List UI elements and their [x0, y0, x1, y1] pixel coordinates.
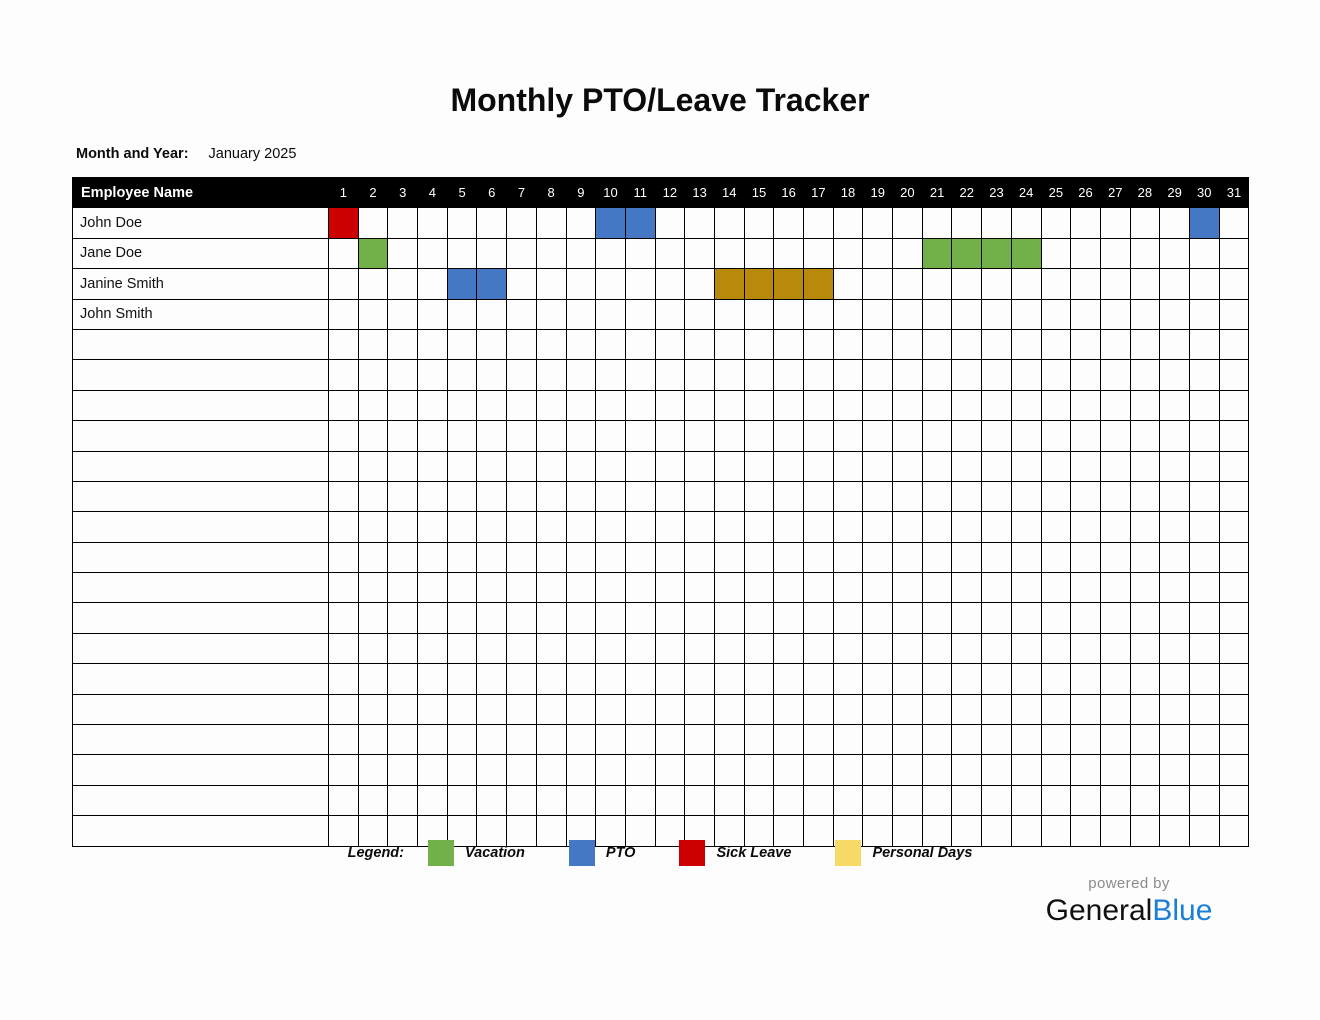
day-cell-20[interactable] [893, 755, 923, 785]
day-cell-21[interactable] [922, 694, 952, 724]
day-cell-6[interactable] [477, 481, 507, 511]
day-cell-4[interactable] [418, 360, 448, 390]
day-cell-27[interactable] [1100, 664, 1130, 694]
day-cell-5[interactable] [447, 664, 477, 694]
day-cell-24[interactable] [1011, 451, 1041, 481]
day-cell-12[interactable] [655, 390, 685, 420]
employee-name-cell[interactable] [73, 603, 329, 633]
day-cell-12[interactable] [655, 603, 685, 633]
day-cell-10[interactable] [596, 512, 626, 542]
day-cell-4[interactable] [418, 238, 448, 268]
day-cell-1[interactable] [329, 329, 359, 359]
day-cell-16[interactable] [774, 633, 804, 663]
day-cell-14[interactable] [714, 694, 744, 724]
day-cell-4[interactable] [418, 421, 448, 451]
day-cell-25[interactable] [1041, 512, 1071, 542]
day-cell-19[interactable] [863, 633, 893, 663]
day-cell-21[interactable] [922, 451, 952, 481]
employee-name-cell[interactable] [73, 725, 329, 755]
day-cell-31[interactable] [1219, 512, 1249, 542]
day-cell-7[interactable] [507, 329, 537, 359]
day-cell-31[interactable] [1219, 664, 1249, 694]
day-cell-20[interactable] [893, 542, 923, 572]
day-cell-11[interactable] [625, 390, 655, 420]
day-cell-7[interactable] [507, 725, 537, 755]
day-cell-20[interactable] [893, 481, 923, 511]
day-cell-1[interactable] [329, 360, 359, 390]
day-cell-2[interactable] [358, 208, 388, 238]
day-cell-10[interactable] [596, 725, 626, 755]
day-cell-10[interactable] [596, 573, 626, 603]
day-cell-21[interactable] [922, 299, 952, 329]
day-cell-8[interactable] [536, 785, 566, 815]
day-cell-6[interactable] [477, 542, 507, 572]
day-cell-1[interactable] [329, 421, 359, 451]
day-cell-15[interactable] [744, 785, 774, 815]
day-cell-21[interactable] [922, 542, 952, 572]
day-cell-2[interactable] [358, 603, 388, 633]
day-cell-20[interactable] [893, 390, 923, 420]
day-cell-29[interactable] [1160, 238, 1190, 268]
day-cell-27[interactable] [1100, 481, 1130, 511]
day-cell-15[interactable] [744, 329, 774, 359]
day-cell-15[interactable] [744, 360, 774, 390]
day-cell-1[interactable] [329, 573, 359, 603]
day-cell-26[interactable] [1071, 664, 1101, 694]
day-cell-28[interactable] [1130, 208, 1160, 238]
day-cell-4[interactable] [418, 390, 448, 420]
day-cell-6[interactable] [477, 238, 507, 268]
day-cell-6[interactable] [477, 633, 507, 663]
day-cell-19[interactable] [863, 542, 893, 572]
day-cell-24[interactable] [1011, 664, 1041, 694]
day-cell-19[interactable] [863, 694, 893, 724]
day-cell-12[interactable] [655, 664, 685, 694]
day-cell-30[interactable] [1189, 238, 1219, 268]
day-cell-15[interactable] [744, 755, 774, 785]
day-cell-23[interactable] [982, 390, 1012, 420]
day-cell-20[interactable] [893, 694, 923, 724]
day-cell-7[interactable] [507, 785, 537, 815]
day-cell-20[interactable] [893, 725, 923, 755]
employee-name-cell[interactable] [73, 573, 329, 603]
day-cell-18[interactable] [833, 269, 863, 299]
day-cell-21[interactable] [922, 360, 952, 390]
day-cell-29[interactable] [1160, 299, 1190, 329]
day-cell-6[interactable] [477, 694, 507, 724]
day-cell-2[interactable] [358, 329, 388, 359]
day-cell-30[interactable] [1189, 451, 1219, 481]
day-cell-12[interactable] [655, 542, 685, 572]
day-cell-2-marked[interactable] [358, 238, 388, 268]
day-cell-14[interactable] [714, 755, 744, 785]
day-cell-30[interactable] [1189, 725, 1219, 755]
day-cell-22[interactable] [952, 755, 982, 785]
day-cell-21[interactable] [922, 755, 952, 785]
day-cell-8[interactable] [536, 664, 566, 694]
day-cell-1[interactable] [329, 755, 359, 785]
day-cell-30[interactable] [1189, 785, 1219, 815]
day-cell-13[interactable] [685, 664, 715, 694]
day-cell-25[interactable] [1041, 451, 1071, 481]
day-cell-17[interactable] [804, 299, 834, 329]
day-cell-14[interactable] [714, 360, 744, 390]
day-cell-7[interactable] [507, 664, 537, 694]
day-cell-4[interactable] [418, 481, 448, 511]
day-cell-17[interactable] [804, 725, 834, 755]
day-cell-23[interactable] [982, 694, 1012, 724]
day-cell-17[interactable] [804, 208, 834, 238]
day-cell-3[interactable] [388, 299, 418, 329]
day-cell-24[interactable] [1011, 603, 1041, 633]
day-cell-2[interactable] [358, 421, 388, 451]
day-cell-27[interactable] [1100, 299, 1130, 329]
day-cell-26[interactable] [1071, 633, 1101, 663]
day-cell-25[interactable] [1041, 421, 1071, 451]
day-cell-15[interactable] [744, 512, 774, 542]
day-cell-12[interactable] [655, 725, 685, 755]
day-cell-1[interactable] [329, 664, 359, 694]
day-cell-17[interactable] [804, 573, 834, 603]
day-cell-10[interactable] [596, 329, 626, 359]
day-cell-18[interactable] [833, 664, 863, 694]
day-cell-12[interactable] [655, 208, 685, 238]
day-cell-19[interactable] [863, 785, 893, 815]
day-cell-23[interactable] [982, 421, 1012, 451]
day-cell-18[interactable] [833, 360, 863, 390]
day-cell-25[interactable] [1041, 481, 1071, 511]
day-cell-30[interactable] [1189, 329, 1219, 359]
day-cell-9[interactable] [566, 725, 596, 755]
day-cell-31[interactable] [1219, 694, 1249, 724]
day-cell-31[interactable] [1219, 785, 1249, 815]
day-cell-19[interactable] [863, 755, 893, 785]
day-cell-7[interactable] [507, 208, 537, 238]
day-cell-9[interactable] [566, 238, 596, 268]
day-cell-2[interactable] [358, 755, 388, 785]
day-cell-8[interactable] [536, 269, 566, 299]
employee-name-cell[interactable]: John Doe [73, 208, 329, 238]
day-cell-9[interactable] [566, 785, 596, 815]
day-cell-16[interactable] [774, 603, 804, 633]
day-cell-28[interactable] [1130, 542, 1160, 572]
day-cell-26[interactable] [1071, 725, 1101, 755]
day-cell-28[interactable] [1130, 633, 1160, 663]
day-cell-18[interactable] [833, 542, 863, 572]
day-cell-19[interactable] [863, 481, 893, 511]
day-cell-25[interactable] [1041, 664, 1071, 694]
day-cell-28[interactable] [1130, 269, 1160, 299]
day-cell-8[interactable] [536, 360, 566, 390]
day-cell-12[interactable] [655, 269, 685, 299]
day-cell-26[interactable] [1071, 694, 1101, 724]
day-cell-31[interactable] [1219, 542, 1249, 572]
day-cell-16[interactable] [774, 573, 804, 603]
day-cell-9[interactable] [566, 360, 596, 390]
day-cell-31[interactable] [1219, 238, 1249, 268]
day-cell-19[interactable] [863, 603, 893, 633]
day-cell-29[interactable] [1160, 512, 1190, 542]
day-cell-9[interactable] [566, 633, 596, 663]
day-cell-21[interactable] [922, 603, 952, 633]
day-cell-23[interactable] [982, 451, 1012, 481]
employee-name-cell[interactable]: Janine Smith [73, 269, 329, 299]
day-cell-1[interactable] [329, 694, 359, 724]
day-cell-10[interactable] [596, 694, 626, 724]
day-cell-22[interactable] [952, 299, 982, 329]
day-cell-24[interactable] [1011, 573, 1041, 603]
employee-name-cell[interactable] [73, 633, 329, 663]
day-cell-6[interactable] [477, 603, 507, 633]
day-cell-25[interactable] [1041, 208, 1071, 238]
day-cell-27[interactable] [1100, 573, 1130, 603]
day-cell-1[interactable] [329, 542, 359, 572]
day-cell-23-marked[interactable] [982, 238, 1012, 268]
day-cell-2[interactable] [358, 481, 388, 511]
day-cell-15[interactable] [744, 694, 774, 724]
day-cell-29[interactable] [1160, 785, 1190, 815]
day-cell-23[interactable] [982, 269, 1012, 299]
day-cell-23[interactable] [982, 299, 1012, 329]
day-cell-10[interactable] [596, 785, 626, 815]
day-cell-28[interactable] [1130, 573, 1160, 603]
day-cell-23[interactable] [982, 664, 1012, 694]
day-cell-1[interactable] [329, 633, 359, 663]
day-cell-17[interactable] [804, 481, 834, 511]
day-cell-3[interactable] [388, 390, 418, 420]
day-cell-1[interactable] [329, 299, 359, 329]
day-cell-27[interactable] [1100, 633, 1130, 663]
day-cell-31[interactable] [1219, 390, 1249, 420]
day-cell-12[interactable] [655, 451, 685, 481]
day-cell-3[interactable] [388, 785, 418, 815]
day-cell-7[interactable] [507, 633, 537, 663]
day-cell-7[interactable] [507, 694, 537, 724]
day-cell-6-marked[interactable] [477, 269, 507, 299]
day-cell-5[interactable] [447, 573, 477, 603]
day-cell-10[interactable] [596, 360, 626, 390]
day-cell-29[interactable] [1160, 360, 1190, 390]
day-cell-4[interactable] [418, 208, 448, 238]
day-cell-14[interactable] [714, 238, 744, 268]
day-cell-7[interactable] [507, 542, 537, 572]
day-cell-12[interactable] [655, 785, 685, 815]
day-cell-3[interactable] [388, 451, 418, 481]
day-cell-2[interactable] [358, 573, 388, 603]
day-cell-15[interactable] [744, 725, 774, 755]
day-cell-8[interactable] [536, 633, 566, 663]
day-cell-9[interactable] [566, 451, 596, 481]
day-cell-1[interactable] [329, 451, 359, 481]
day-cell-17[interactable] [804, 512, 834, 542]
day-cell-4[interactable] [418, 329, 448, 359]
day-cell-24[interactable] [1011, 208, 1041, 238]
day-cell-12[interactable] [655, 360, 685, 390]
day-cell-7[interactable] [507, 603, 537, 633]
employee-name-cell[interactable]: John Smith [73, 299, 329, 329]
day-cell-6[interactable] [477, 512, 507, 542]
day-cell-17[interactable] [804, 542, 834, 572]
day-cell-12[interactable] [655, 481, 685, 511]
day-cell-30-marked[interactable] [1189, 208, 1219, 238]
day-cell-1-marked[interactable] [329, 208, 359, 238]
day-cell-26[interactable] [1071, 603, 1101, 633]
day-cell-2[interactable] [358, 664, 388, 694]
day-cell-11[interactable] [625, 694, 655, 724]
day-cell-16-marked[interactable] [774, 269, 804, 299]
day-cell-27[interactable] [1100, 694, 1130, 724]
day-cell-11[interactable] [625, 664, 655, 694]
day-cell-22[interactable] [952, 360, 982, 390]
day-cell-30[interactable] [1189, 512, 1219, 542]
day-cell-13[interactable] [685, 725, 715, 755]
employee-name-cell[interactable]: Jane Doe [73, 238, 329, 268]
day-cell-11[interactable] [625, 603, 655, 633]
day-cell-8[interactable] [536, 208, 566, 238]
day-cell-22-marked[interactable] [952, 238, 982, 268]
day-cell-22[interactable] [952, 390, 982, 420]
day-cell-2[interactable] [358, 785, 388, 815]
day-cell-11[interactable] [625, 269, 655, 299]
day-cell-28[interactable] [1130, 512, 1160, 542]
day-cell-27[interactable] [1100, 238, 1130, 268]
day-cell-14[interactable] [714, 633, 744, 663]
day-cell-9[interactable] [566, 269, 596, 299]
day-cell-13[interactable] [685, 451, 715, 481]
day-cell-21[interactable] [922, 573, 952, 603]
day-cell-17-marked[interactable] [804, 269, 834, 299]
day-cell-29[interactable] [1160, 421, 1190, 451]
day-cell-3[interactable] [388, 421, 418, 451]
day-cell-31[interactable] [1219, 573, 1249, 603]
day-cell-16[interactable] [774, 451, 804, 481]
day-cell-14[interactable] [714, 329, 744, 359]
day-cell-14[interactable] [714, 725, 744, 755]
day-cell-18[interactable] [833, 299, 863, 329]
day-cell-9[interactable] [566, 208, 596, 238]
day-cell-9[interactable] [566, 694, 596, 724]
day-cell-9[interactable] [566, 603, 596, 633]
day-cell-18[interactable] [833, 238, 863, 268]
day-cell-8[interactable] [536, 573, 566, 603]
day-cell-8[interactable] [536, 238, 566, 268]
day-cell-8[interactable] [536, 725, 566, 755]
day-cell-17[interactable] [804, 360, 834, 390]
day-cell-30[interactable] [1189, 390, 1219, 420]
day-cell-6[interactable] [477, 421, 507, 451]
day-cell-7[interactable] [507, 573, 537, 603]
day-cell-5-marked[interactable] [447, 269, 477, 299]
day-cell-24[interactable] [1011, 785, 1041, 815]
day-cell-16[interactable] [774, 421, 804, 451]
day-cell-28[interactable] [1130, 238, 1160, 268]
day-cell-6[interactable] [477, 451, 507, 481]
day-cell-1[interactable] [329, 603, 359, 633]
day-cell-12[interactable] [655, 573, 685, 603]
day-cell-5[interactable] [447, 238, 477, 268]
day-cell-14[interactable] [714, 542, 744, 572]
day-cell-25[interactable] [1041, 269, 1071, 299]
day-cell-17[interactable] [804, 421, 834, 451]
day-cell-13[interactable] [685, 512, 715, 542]
day-cell-22[interactable] [952, 451, 982, 481]
day-cell-24[interactable] [1011, 360, 1041, 390]
day-cell-22[interactable] [952, 421, 982, 451]
day-cell-5[interactable] [447, 299, 477, 329]
day-cell-6[interactable] [477, 755, 507, 785]
day-cell-18[interactable] [833, 390, 863, 420]
day-cell-13[interactable] [685, 573, 715, 603]
day-cell-20[interactable] [893, 785, 923, 815]
day-cell-24[interactable] [1011, 694, 1041, 724]
day-cell-27[interactable] [1100, 421, 1130, 451]
day-cell-30[interactable] [1189, 573, 1219, 603]
day-cell-25[interactable] [1041, 329, 1071, 359]
day-cell-5[interactable] [447, 481, 477, 511]
day-cell-18[interactable] [833, 725, 863, 755]
day-cell-31[interactable] [1219, 360, 1249, 390]
day-cell-20[interactable] [893, 664, 923, 694]
day-cell-31[interactable] [1219, 633, 1249, 663]
day-cell-13[interactable] [685, 360, 715, 390]
day-cell-12[interactable] [655, 238, 685, 268]
day-cell-22[interactable] [952, 603, 982, 633]
day-cell-1[interactable] [329, 390, 359, 420]
day-cell-13[interactable] [685, 208, 715, 238]
day-cell-16[interactable] [774, 664, 804, 694]
day-cell-2[interactable] [358, 725, 388, 755]
day-cell-7[interactable] [507, 512, 537, 542]
employee-name-cell[interactable] [73, 421, 329, 451]
day-cell-17[interactable] [804, 694, 834, 724]
day-cell-21[interactable] [922, 633, 952, 663]
day-cell-3[interactable] [388, 329, 418, 359]
day-cell-2[interactable] [358, 269, 388, 299]
day-cell-9[interactable] [566, 512, 596, 542]
day-cell-26[interactable] [1071, 329, 1101, 359]
day-cell-14-marked[interactable] [714, 269, 744, 299]
day-cell-22[interactable] [952, 785, 982, 815]
day-cell-7[interactable] [507, 360, 537, 390]
day-cell-3[interactable] [388, 269, 418, 299]
day-cell-3[interactable] [388, 208, 418, 238]
day-cell-12[interactable] [655, 694, 685, 724]
day-cell-29[interactable] [1160, 573, 1190, 603]
day-cell-27[interactable] [1100, 542, 1130, 572]
day-cell-5[interactable] [447, 785, 477, 815]
day-cell-22[interactable] [952, 269, 982, 299]
day-cell-31[interactable] [1219, 329, 1249, 359]
day-cell-21[interactable] [922, 208, 952, 238]
day-cell-13[interactable] [685, 238, 715, 268]
employee-name-cell[interactable] [73, 481, 329, 511]
day-cell-28[interactable] [1130, 481, 1160, 511]
employee-name-cell[interactable] [73, 694, 329, 724]
day-cell-28[interactable] [1130, 664, 1160, 694]
day-cell-5[interactable] [447, 360, 477, 390]
day-cell-9[interactable] [566, 664, 596, 694]
day-cell-10[interactable] [596, 451, 626, 481]
day-cell-18[interactable] [833, 633, 863, 663]
day-cell-4[interactable] [418, 299, 448, 329]
day-cell-27[interactable] [1100, 390, 1130, 420]
day-cell-21[interactable] [922, 329, 952, 359]
day-cell-1[interactable] [329, 785, 359, 815]
day-cell-29[interactable] [1160, 542, 1190, 572]
day-cell-6[interactable] [477, 785, 507, 815]
day-cell-28[interactable] [1130, 785, 1160, 815]
day-cell-3[interactable] [388, 725, 418, 755]
